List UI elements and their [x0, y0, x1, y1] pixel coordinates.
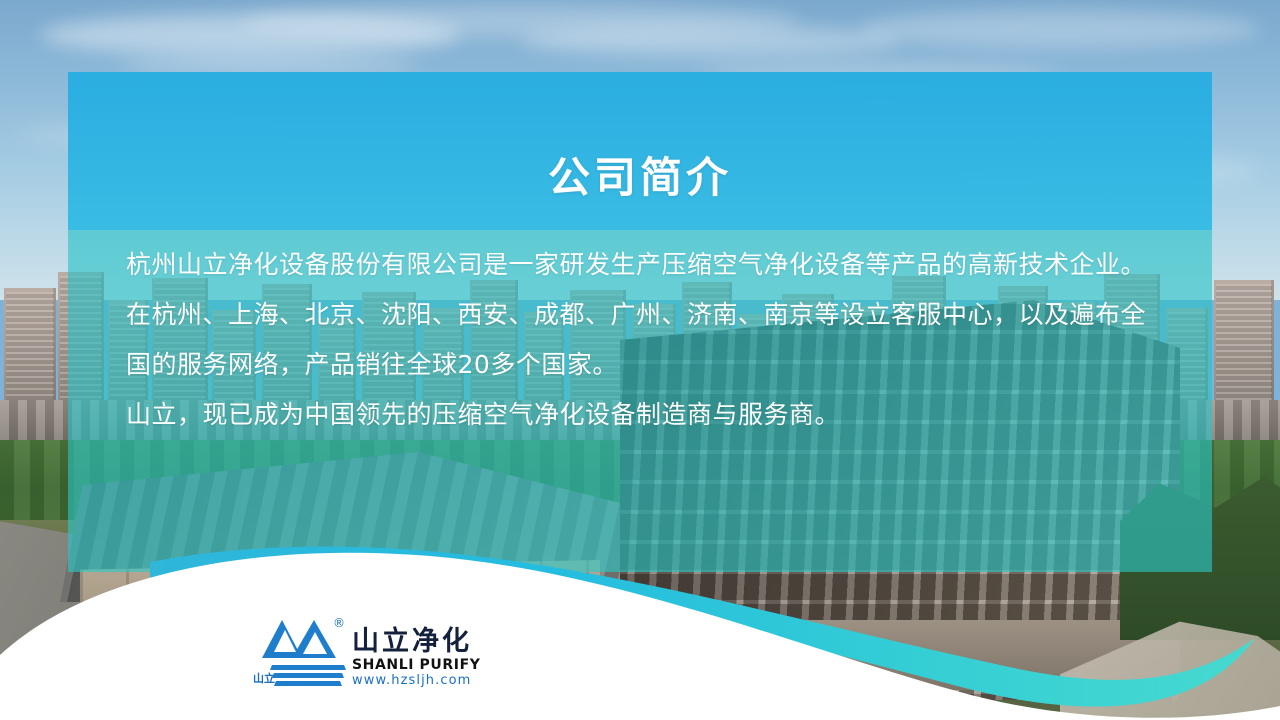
- description-paragraph-2: 山立，现已成为中国领先的压缩空气净化设备制造商与服务商。: [126, 390, 1156, 440]
- logo-name-en: SHANLI PURIFY: [352, 657, 480, 673]
- registered-trademark-icon: ®: [333, 616, 345, 630]
- logo-website-url: www.hzsljh.com: [352, 673, 480, 688]
- page-title: 公司简介: [68, 144, 1212, 205]
- company-logo[interactable]: ® 山立 山立净化 SHANLI PURIFY www.hzsljh.com: [252, 606, 482, 690]
- slide-canvas: 公司简介 杭州山立净化设备股份有限公司是一家研发生产压缩空气净化设备等产品的高新…: [0, 0, 1280, 720]
- footer-decoration: [0, 480, 1280, 720]
- company-description: 杭州山立净化设备股份有限公司是一家研发生产压缩空气净化设备等产品的高新技术企业。…: [126, 240, 1156, 440]
- mountain-logo-icon: ® 山立: [252, 612, 348, 690]
- logo-mark-label: 山立: [253, 670, 275, 686]
- cloud-icon: [860, 10, 1260, 48]
- cloud-icon: [520, 26, 900, 56]
- logo-name-cn: 山立净化: [352, 627, 480, 657]
- logo-wordmark: 山立净化 SHANLI PURIFY www.hzsljh.com: [352, 627, 480, 690]
- description-paragraph-1: 杭州山立净化设备股份有限公司是一家研发生产压缩空气净化设备等产品的高新技术企业。…: [126, 240, 1156, 390]
